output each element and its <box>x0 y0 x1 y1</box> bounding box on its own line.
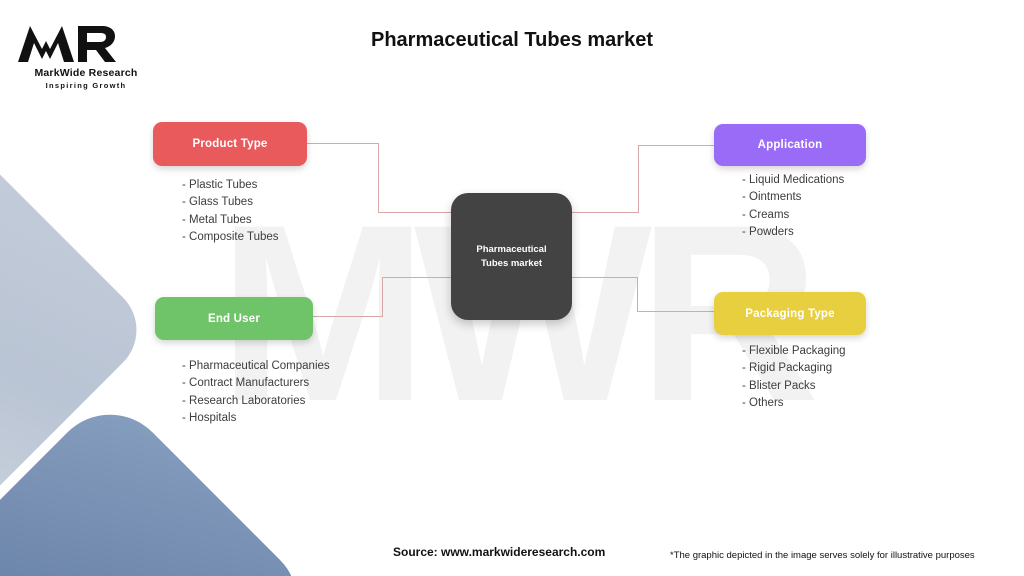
connector-end-user-v <box>382 277 383 317</box>
page-title: Pharmaceutical Tubes market <box>0 29 1024 52</box>
connector-application-v <box>638 145 639 213</box>
branch-list-packaging-type: - Flexible Packaging - Rigid Packaging -… <box>742 343 846 413</box>
branch-label-end-user: End User <box>208 313 260 325</box>
list-item: - Contract Manufacturers <box>182 375 330 392</box>
connector-end-user-h2 <box>382 277 454 278</box>
list-item: - Composite Tubes <box>182 229 279 246</box>
branch-label-application: Application <box>758 139 823 151</box>
connector-application-h2 <box>638 145 716 146</box>
branch-label-product-type: Product Type <box>192 138 267 150</box>
list-item: - Plastic Tubes <box>182 177 279 194</box>
list-item: - Rigid Packaging <box>742 360 846 377</box>
disclaimer-text: *The graphic depicted in the image serve… <box>670 550 975 561</box>
logo-tagline: Inspiring Growth <box>16 81 156 90</box>
center-node[interactable]: Pharmaceutical Tubes market <box>451 193 572 320</box>
connector-packaging-type-h1 <box>569 277 638 278</box>
diagram-canvas: MWR MarkWide Research Inspiring Growth P… <box>0 0 1024 576</box>
list-item: - Pharmaceutical Companies <box>182 358 330 375</box>
branch-list-product-type: - Plastic Tubes - Glass Tubes - Metal Tu… <box>182 177 279 247</box>
list-item: - Research Laboratories <box>182 393 330 410</box>
branch-node-end-user[interactable]: End User <box>155 297 313 340</box>
center-node-line1: Pharmaceutical <box>476 244 546 255</box>
list-item: - Powders <box>742 224 844 241</box>
source-label: Source: www.markwideresearch.com <box>393 545 605 559</box>
connector-packaging-type-h2 <box>637 311 715 312</box>
connector-product-type-h1 <box>307 143 379 144</box>
list-item: - Hospitals <box>182 410 330 427</box>
list-item: - Metal Tubes <box>182 212 279 229</box>
list-item: - Glass Tubes <box>182 194 279 211</box>
branch-node-product-type[interactable]: Product Type <box>153 122 307 166</box>
branch-node-application[interactable]: Application <box>714 124 866 166</box>
list-item: - Liquid Medications <box>742 172 844 189</box>
connector-product-type-h2 <box>378 212 454 213</box>
list-item: - Creams <box>742 207 844 224</box>
connector-packaging-type-v <box>637 277 638 312</box>
branch-list-application: - Liquid Medications - Ointments - Cream… <box>742 172 844 242</box>
branch-node-packaging-type[interactable]: Packaging Type <box>714 292 866 335</box>
connector-product-type-v <box>378 143 379 213</box>
branch-label-packaging-type: Packaging Type <box>745 308 835 320</box>
branch-list-end-user: - Pharmaceutical Companies - Contract Ma… <box>182 358 330 428</box>
center-node-line2: Tubes market <box>481 258 542 269</box>
connector-application-h1 <box>569 212 639 213</box>
connector-end-user-h1 <box>313 316 383 317</box>
list-item: - Blister Packs <box>742 378 846 395</box>
list-item: - Others <box>742 395 846 412</box>
logo-company-name: MarkWide Research <box>16 67 156 79</box>
list-item: - Flexible Packaging <box>742 343 846 360</box>
list-item: - Ointments <box>742 189 844 206</box>
